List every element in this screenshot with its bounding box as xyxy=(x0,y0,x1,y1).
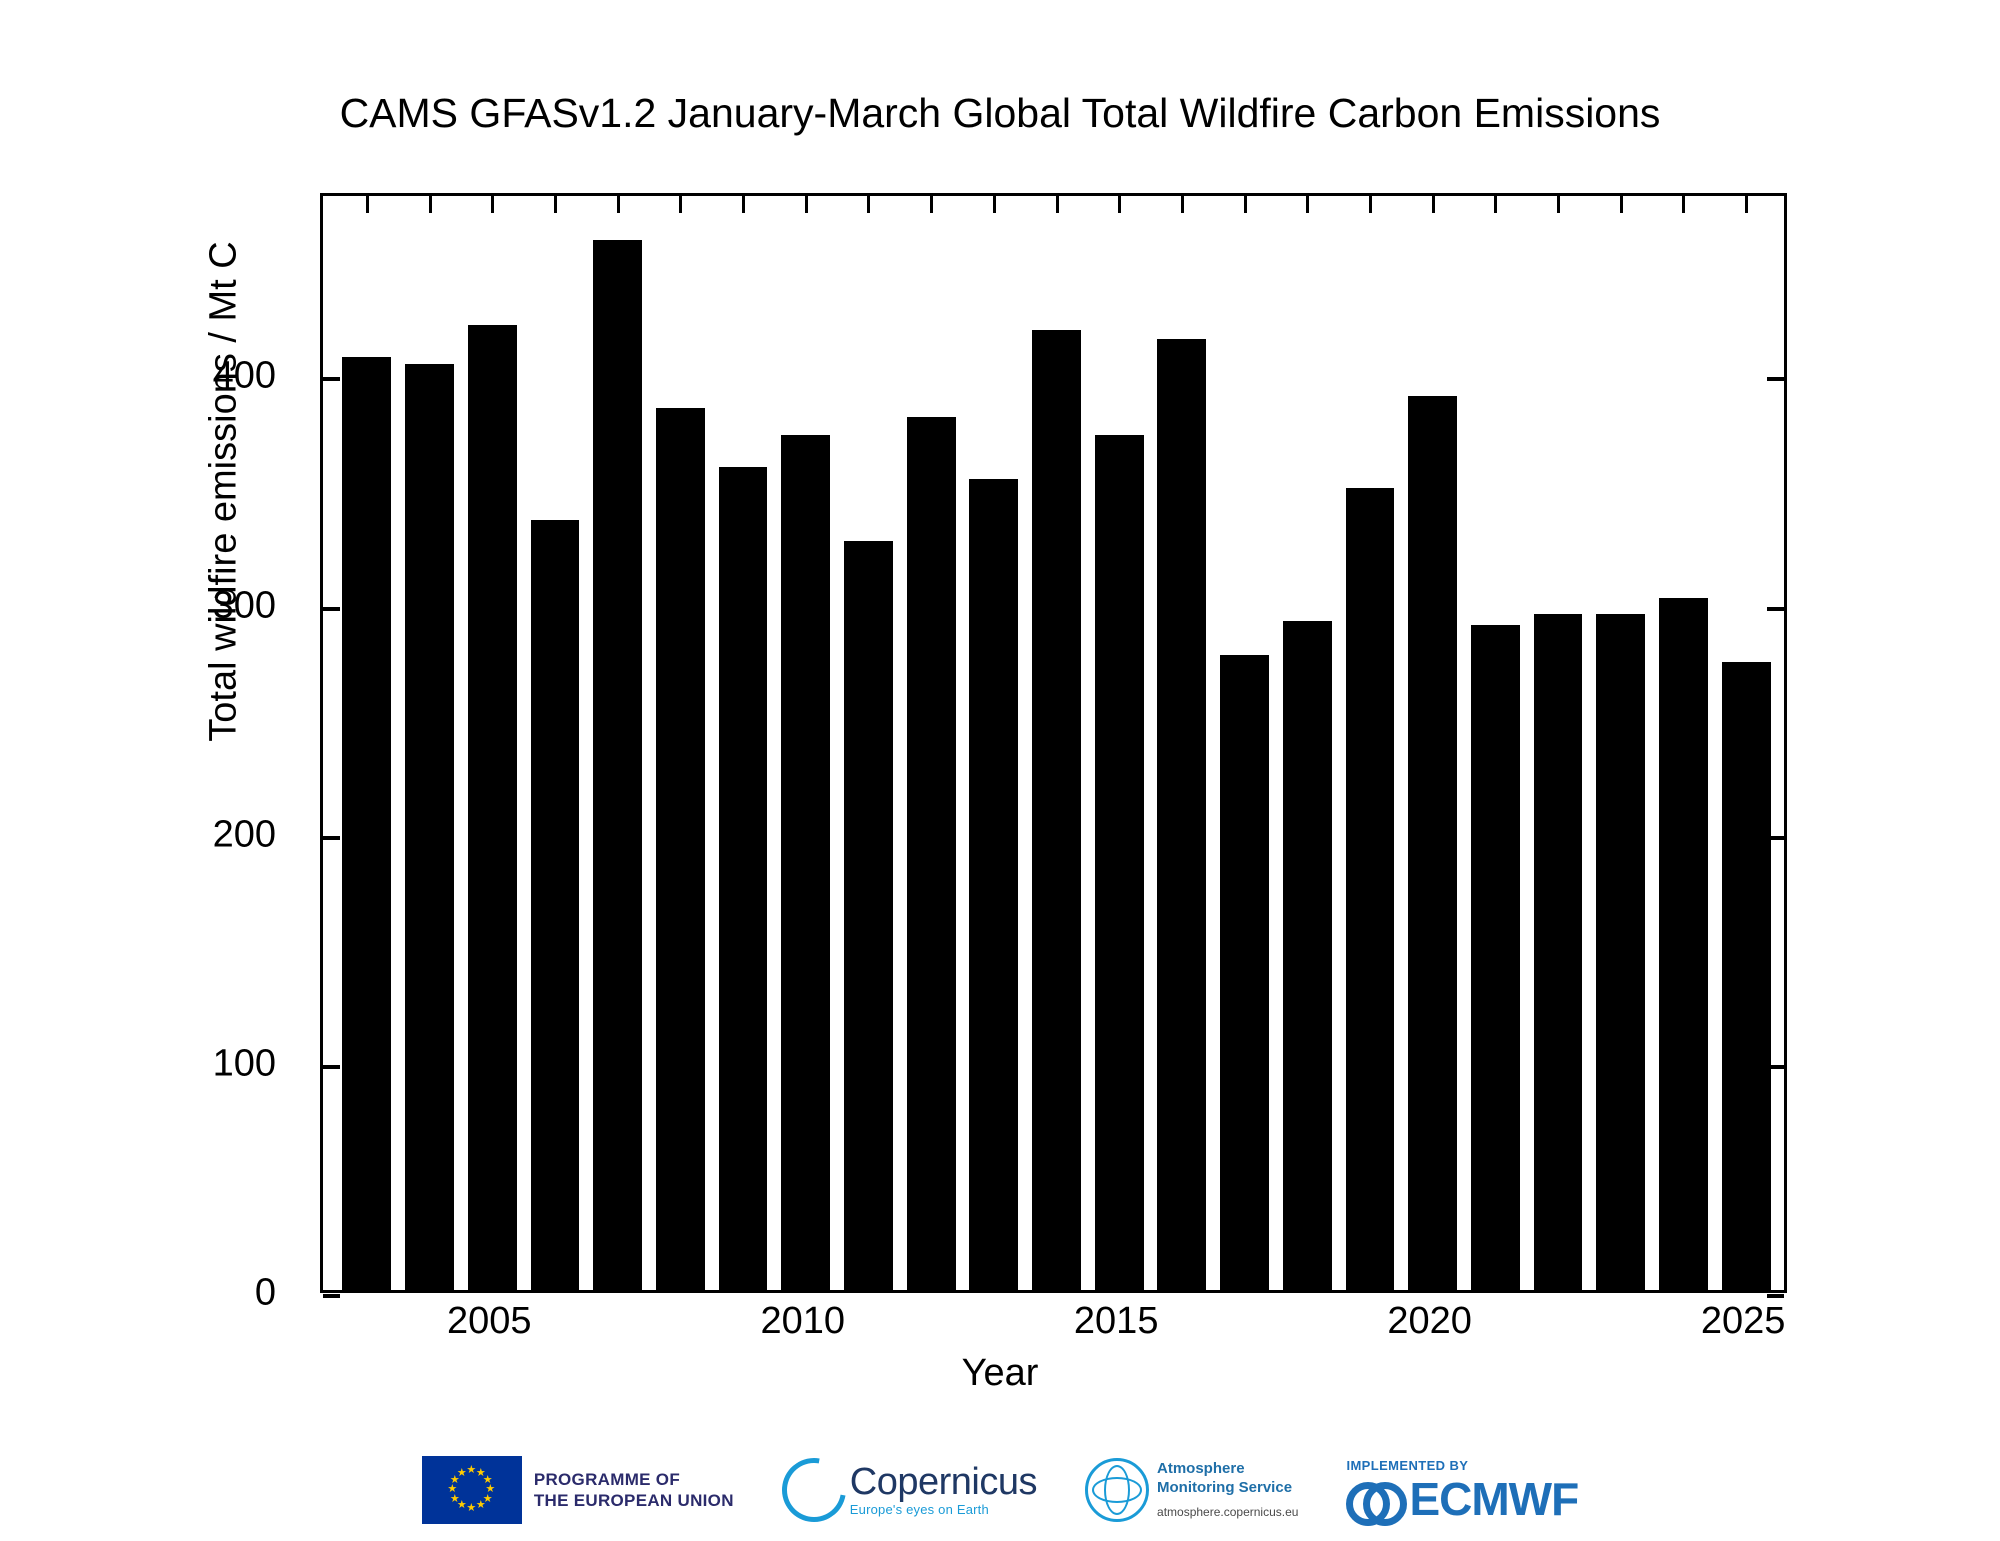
bar-2015 xyxy=(1095,435,1144,1290)
bar-2003 xyxy=(342,357,391,1290)
copernicus-wordmark: Copernicus Europe's eyes on Earth xyxy=(850,1463,1037,1517)
eu-star-icon: ★ xyxy=(447,1484,457,1495)
x-tick-top-2003 xyxy=(366,196,369,213)
y-tick-0 xyxy=(323,1294,340,1298)
x-tick-top-2025 xyxy=(1745,196,1748,213)
bar-2022 xyxy=(1534,614,1583,1290)
x-tick-top-2017 xyxy=(1244,196,1247,213)
x-tick-top-2005 xyxy=(491,196,494,213)
x-tick-2025 xyxy=(1745,1273,1748,1290)
bar-2024 xyxy=(1659,598,1708,1290)
x-tick-top-2014 xyxy=(1056,196,1059,213)
x-tick-top-2012 xyxy=(930,196,933,213)
copernicus-swirl-icon xyxy=(769,1445,858,1534)
y-tick-right-400 xyxy=(1767,377,1784,381)
copernicus-tagline: Europe's eyes on Earth xyxy=(850,1503,1037,1517)
bar-2007 xyxy=(593,240,642,1290)
x-tick-top-2011 xyxy=(867,196,870,213)
ecmwf-implemented-by-label: IMPLEMENTED BY xyxy=(1346,1459,1578,1472)
x-tick-2010 xyxy=(805,1273,808,1290)
x-tick-2023 xyxy=(1620,1273,1623,1290)
ecmwf-row: ECMWF xyxy=(1346,1476,1578,1522)
eu-star-icon: ★ xyxy=(457,1468,467,1479)
page-title: CAMS GFASv1.2 January-March Global Total… xyxy=(0,90,2000,137)
x-tick-top-2018 xyxy=(1306,196,1309,213)
ecmwf-ring-right xyxy=(1363,1482,1407,1526)
bar-2021 xyxy=(1471,625,1520,1290)
bar-2016 xyxy=(1157,339,1206,1290)
y-tick-label-200: 200 xyxy=(213,813,276,856)
x-tick-2020 xyxy=(1432,1273,1435,1290)
eu-star-icon: ★ xyxy=(466,1465,476,1476)
globe-icon xyxy=(1085,1458,1149,1522)
x-tick-2006 xyxy=(554,1273,557,1290)
eu-text-line2: THE EUROPEAN UNION xyxy=(534,1490,734,1511)
copernicus-name: Copernicus xyxy=(850,1463,1037,1503)
x-tick-top-2021 xyxy=(1494,196,1497,213)
bar-2011 xyxy=(844,541,893,1290)
bar-2005 xyxy=(468,325,517,1290)
x-tick-2008 xyxy=(679,1273,682,1290)
x-tick-2017 xyxy=(1244,1273,1247,1290)
x-tick-top-2015 xyxy=(1118,196,1121,213)
ecmwf-name: ECMWF xyxy=(1409,1476,1578,1522)
x-tick-top-2004 xyxy=(429,196,432,213)
bar-2025 xyxy=(1722,662,1771,1290)
x-tick-label-2020: 2020 xyxy=(1387,1300,1472,1343)
x-tick-2012 xyxy=(930,1273,933,1290)
bar-2019 xyxy=(1346,488,1395,1290)
bar-2013 xyxy=(969,479,1018,1290)
cams-atmosphere-logo: Atmosphere Monitoring Service atmosphere… xyxy=(1085,1458,1298,1522)
bar-2006 xyxy=(531,520,580,1290)
bar-2008 xyxy=(656,408,705,1290)
eu-star-icon: ★ xyxy=(476,1500,486,1511)
y-tick-right-200 xyxy=(1767,836,1784,840)
bar-2020 xyxy=(1408,396,1457,1290)
x-tick-top-2016 xyxy=(1181,196,1184,213)
y-tick-right-300 xyxy=(1767,607,1784,611)
eu-text-line1: PROGRAMME OF xyxy=(534,1469,734,1490)
x-tick-top-2007 xyxy=(617,196,620,213)
bar-2014 xyxy=(1032,330,1081,1290)
x-tick-top-2009 xyxy=(742,196,745,213)
x-tick-top-2006 xyxy=(554,196,557,213)
x-tick-label-2025: 2025 xyxy=(1701,1300,1786,1343)
y-tick-label-0: 0 xyxy=(255,1272,276,1315)
x-tick-2021 xyxy=(1494,1273,1497,1290)
y-tick-right-0 xyxy=(1767,1294,1784,1298)
y-tick-label-400: 400 xyxy=(213,355,276,398)
x-tick-top-2022 xyxy=(1557,196,1560,213)
y-tick-400 xyxy=(323,377,340,381)
bar-2004 xyxy=(405,364,454,1290)
cams-line2: Monitoring Service xyxy=(1157,1479,1298,1498)
eu-star-icon: ★ xyxy=(450,1494,460,1505)
y-tick-label-100: 100 xyxy=(213,1042,276,1085)
x-tick-top-2020 xyxy=(1432,196,1435,213)
x-axis-title: Year xyxy=(0,1352,2000,1395)
bar-2012 xyxy=(907,417,956,1290)
copernicus-logo: Copernicus Europe's eyes on Earth xyxy=(782,1458,1037,1522)
bar-2018 xyxy=(1283,621,1332,1290)
x-tick-top-2023 xyxy=(1620,196,1623,213)
x-tick-2018 xyxy=(1306,1273,1309,1290)
y-tick-right-100 xyxy=(1767,1065,1784,1069)
plot-area xyxy=(320,193,1787,1293)
x-tick-2003 xyxy=(366,1273,369,1290)
y-tick-300 xyxy=(323,607,340,611)
x-tick-2024 xyxy=(1682,1273,1685,1290)
cams-wordmark: Atmosphere Monitoring Service atmosphere… xyxy=(1157,1460,1298,1521)
x-tick-label-2010: 2010 xyxy=(760,1300,845,1343)
eu-programme-text: PROGRAMME OF THE EUROPEAN UNION xyxy=(534,1469,734,1512)
x-tick-2011 xyxy=(867,1273,870,1290)
eu-star-icon: ★ xyxy=(466,1503,476,1514)
footer-logo-bar: ★★★★★★★★★★★★ PROGRAMME OF THE EUROPEAN U… xyxy=(0,1440,2000,1540)
x-tick-2014 xyxy=(1056,1273,1059,1290)
ecmwf-rings-icon xyxy=(1346,1479,1402,1519)
x-tick-2009 xyxy=(742,1273,745,1290)
x-tick-2005 xyxy=(491,1273,494,1290)
x-tick-2013 xyxy=(993,1273,996,1290)
cams-url: atmosphere.copernicus.eu xyxy=(1157,1505,1298,1520)
bar-2009 xyxy=(719,467,768,1290)
x-tick-label-2005: 2005 xyxy=(447,1300,532,1343)
x-tick-top-2019 xyxy=(1369,196,1372,213)
x-tick-top-2024 xyxy=(1682,196,1685,213)
y-tick-100 xyxy=(323,1065,340,1069)
x-tick-2004 xyxy=(429,1273,432,1290)
bar-2023 xyxy=(1596,614,1645,1290)
x-tick-2019 xyxy=(1369,1273,1372,1290)
bar-2010 xyxy=(781,435,830,1290)
eu-flag-icon: ★★★★★★★★★★★★ xyxy=(422,1456,522,1524)
eu-programme-logo: ★★★★★★★★★★★★ PROGRAMME OF THE EUROPEAN U… xyxy=(422,1456,734,1524)
x-tick-2016 xyxy=(1181,1273,1184,1290)
x-tick-top-2008 xyxy=(679,196,682,213)
x-tick-2022 xyxy=(1557,1273,1560,1290)
x-tick-2015 xyxy=(1118,1273,1121,1290)
x-tick-top-2013 xyxy=(993,196,996,213)
x-tick-top-2010 xyxy=(805,196,808,213)
ecmwf-logo: IMPLEMENTED BY ECMWF xyxy=(1346,1459,1578,1522)
cams-line1: Atmosphere xyxy=(1157,1460,1298,1479)
y-axis-tick-labels: 0100200300400 xyxy=(0,0,300,1541)
x-tick-label-2015: 2015 xyxy=(1074,1300,1159,1343)
bar-2017 xyxy=(1220,655,1269,1290)
globe-ellipse-vertical xyxy=(1104,1465,1130,1515)
x-tick-2007 xyxy=(617,1273,620,1290)
y-tick-label-300: 300 xyxy=(213,584,276,627)
bars-layer xyxy=(323,196,1784,1290)
y-tick-200 xyxy=(323,836,340,840)
